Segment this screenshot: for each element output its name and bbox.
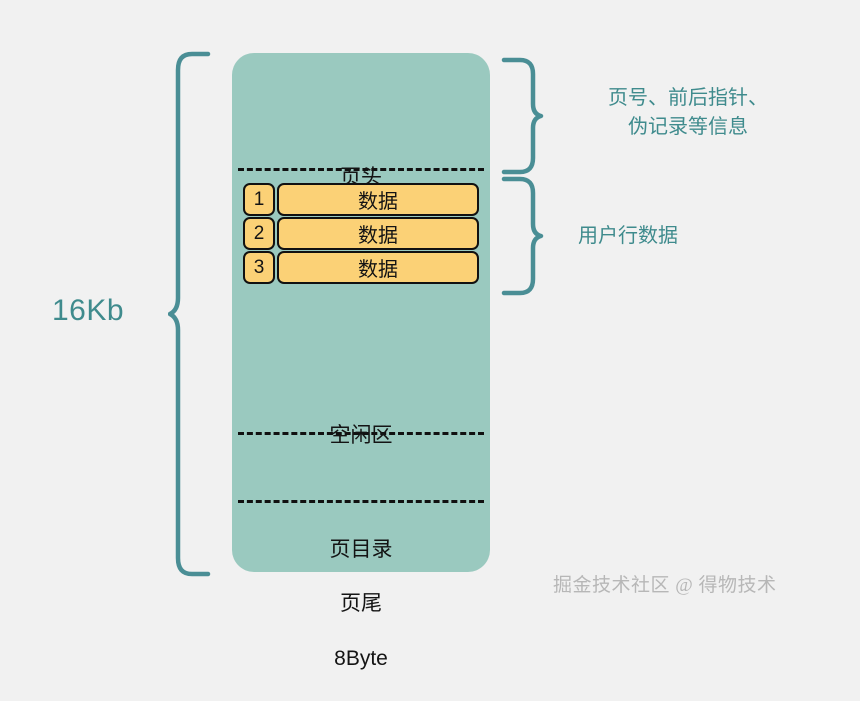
data-row-index: 3 [243, 251, 275, 284]
data-row: 3 数据 [243, 251, 479, 284]
section-page-footer-line2: 8Byte [232, 645, 490, 673]
data-row: 2 数据 [243, 217, 479, 250]
section-page-directory-line1: 页目录 [232, 536, 490, 564]
section-free-space-line1: 空闲区 [232, 422, 490, 450]
diagram-canvas: 16Kb 页头 120Byte 1 数据 2 数据 3 数据 空闲区 [0, 0, 860, 620]
watermark: 掘金技术社区 @ 得物技术 [553, 570, 777, 597]
separator-directory-footer [238, 500, 484, 503]
data-row-label: 数据 [277, 251, 479, 284]
section-page-footer-line1: 页尾 [232, 590, 490, 618]
data-row-index: 2 [243, 217, 275, 250]
rows-annotation-text: 用户行数据 [578, 222, 728, 251]
header-annotation-bracket [500, 56, 560, 176]
header-annotation-text: 页号、前后指针、 伪记录等信息 [578, 84, 798, 142]
rows-annotation-bracket [500, 175, 560, 297]
total-size-label: 16Kb [52, 294, 124, 328]
data-rows-group: 1 数据 2 数据 3 数据 [243, 183, 479, 285]
data-row-label: 数据 [277, 183, 479, 216]
section-page-footer: 页尾 8Byte [232, 562, 490, 701]
data-row: 1 数据 [243, 183, 479, 216]
total-size-bracket [168, 50, 212, 578]
data-row-label: 数据 [277, 217, 479, 250]
data-row-index: 1 [243, 183, 275, 216]
page-block: 页头 120Byte 1 数据 2 数据 3 数据 空闲区 页目录 页尾 [232, 53, 490, 572]
section-free-space: 空闲区 [232, 394, 490, 477]
